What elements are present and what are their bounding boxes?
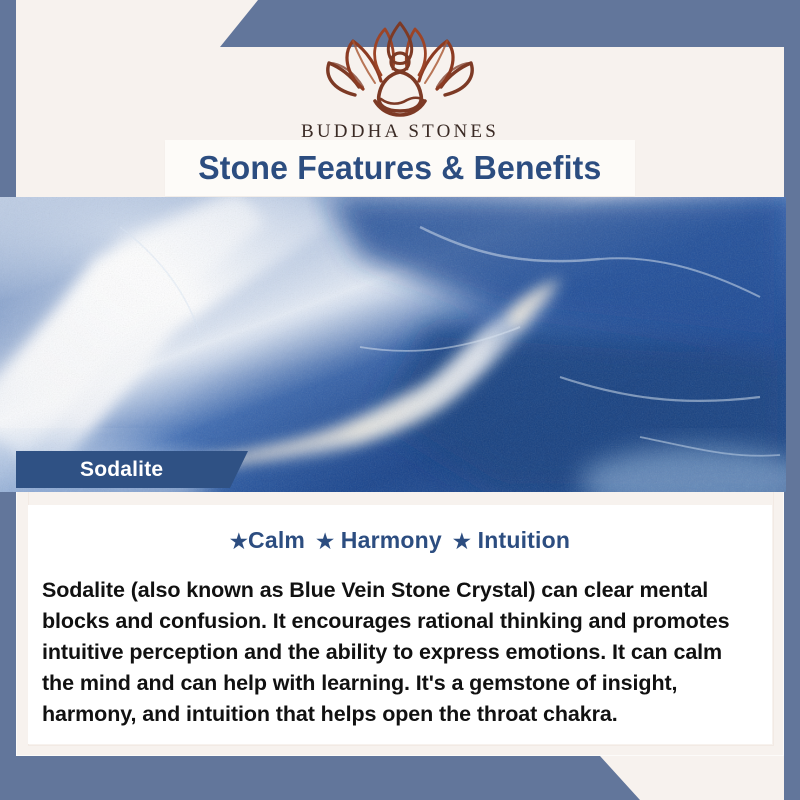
keyword-label-harmony: Harmony bbox=[341, 527, 442, 553]
keyword-label-calm: Calm bbox=[248, 527, 305, 553]
stone-image bbox=[0, 197, 786, 492]
description-text: Sodalite (also known as Blue Vein Stone … bbox=[42, 575, 746, 730]
description-panel: ★Calm★ Harmony★ Intuition Sodalite (also… bbox=[28, 505, 772, 744]
keyword-item-harmony: ★ Harmony bbox=[316, 527, 442, 553]
brand-logo: BUDDHA STONES bbox=[16, 17, 784, 143]
star-icon: ★ bbox=[316, 531, 334, 553]
page-title: Stone Features & Benefits bbox=[198, 149, 601, 187]
stone-name-label: Sodalite bbox=[80, 458, 163, 482]
right-accent-bar bbox=[784, 0, 800, 800]
keyword-item-intuition: ★ Intuition bbox=[453, 527, 570, 553]
title-banner: Stone Features & Benefits bbox=[165, 140, 635, 196]
stone-info-card: BUDDHA STONES Stone Features & Benefits bbox=[0, 0, 800, 800]
stone-name-tag: Sodalite bbox=[16, 451, 248, 488]
keyword-item-calm: ★Calm bbox=[230, 527, 305, 553]
sodalite-texture-graphic bbox=[0, 197, 786, 492]
keyword-list: ★Calm★ Harmony★ Intuition bbox=[28, 527, 772, 554]
keyword-label-intuition: Intuition bbox=[478, 527, 571, 553]
bottom-left-accent-wedge bbox=[0, 756, 640, 800]
star-icon: ★ bbox=[453, 531, 471, 553]
lotus-meditation-figure-icon bbox=[315, 17, 485, 117]
star-icon: ★ bbox=[230, 531, 248, 553]
